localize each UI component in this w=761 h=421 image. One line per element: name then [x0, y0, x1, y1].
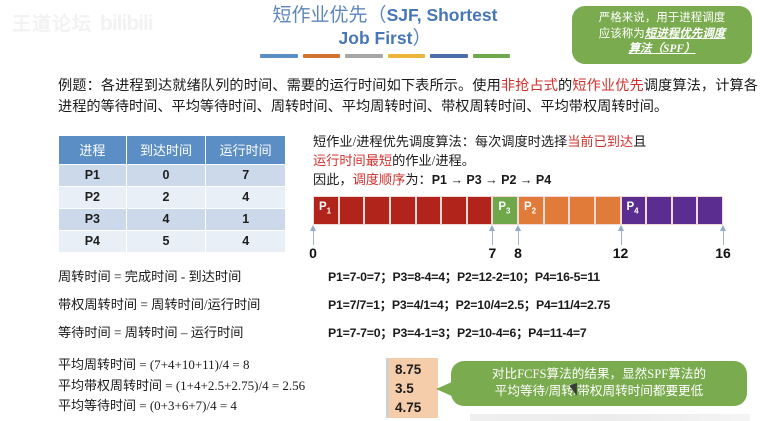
formula-row: 等待时间 = 周转时间 – 运行时间 P1=7-7=0；P3=4-1=3；P2=… — [58, 322, 758, 350]
table-cell: 0 — [126, 165, 206, 187]
title-cn: 短作业优先（ — [273, 5, 387, 26]
table-cell: P1 — [59, 165, 127, 187]
algo-note-red-2: 运行时间最短 — [313, 153, 392, 168]
watermark: 王道论坛bilibili — [12, 9, 153, 36]
gantt-segment-label: P4 — [627, 201, 639, 215]
gantt-cell — [390, 196, 416, 225]
average-line: 平均周转时间 = (7+4+10+11)/4 = 8 — [58, 355, 398, 376]
tick-label: 0 — [299, 245, 327, 261]
table-cell: 1 — [206, 209, 286, 231]
rule-seg-6 — [473, 54, 511, 58]
problem-part-2: 的 — [558, 78, 572, 94]
table-row: P2 2 4 — [59, 187, 286, 209]
algorithm-note: 短作业/进程优先调度算法：每次调度时选择当前已到达且 运行时间最短的作业/进程。… — [313, 132, 758, 190]
rule-seg-3 — [345, 54, 383, 58]
fcfs-result-value: 8.75 — [395, 360, 438, 379]
gantt-cell — [569, 196, 595, 225]
table-header-cell: 到达时间 — [126, 136, 206, 165]
table-row: P4 5 4 — [59, 231, 286, 253]
tick-label: 16 — [709, 245, 737, 261]
slide-root: 王道论坛bilibili 短作业优先（SJF, Shortest Job Fir… — [0, 0, 761, 421]
fcfs-result-value: 3.5 — [395, 379, 438, 398]
gantt-cell: P2 — [518, 196, 544, 225]
algo-note-text-2: 且 — [633, 134, 646, 149]
fcfs-result-value: 4.75 — [395, 398, 438, 417]
algo-note-line-2: 运行时间最短的作业/进程。 — [313, 151, 758, 170]
average-list: 平均周转时间 = (7+4+10+11)/4 = 8 平均带权周转时间 = (1… — [58, 355, 398, 417]
formula-rhs: P1=7-0=7；P3=8-4=4；P2=12-2=10；P4=16-5=11 — [328, 267, 600, 285]
rule-seg-5 — [430, 54, 468, 58]
tick-stem — [723, 230, 724, 245]
rule-seg-4 — [388, 54, 426, 58]
formula-row: 周转时间 = 完成时间 - 到达时间 P1=7-0=7；P3=8-4=4；P2=… — [58, 266, 758, 294]
algo-note-text-1: 短作业/进程优先调度算法：每次调度时选择 — [313, 134, 567, 149]
table-cell: P4 — [59, 231, 127, 253]
tick-label: 7 — [478, 245, 506, 261]
formula-lhs: 周转时间 = 完成时间 - 到达时间 — [58, 266, 241, 285]
rule-seg-1 — [260, 54, 298, 58]
title-en-1: SJF, Shortest — [387, 5, 498, 25]
gantt-cell — [646, 196, 672, 225]
callout-bottom-line-2: 平均等待/周转/带权周转时间都要更低 — [459, 383, 739, 400]
watermark-text-en: bilibili — [100, 12, 153, 35]
algo-note-text-3: 的作业/进程。 — [392, 153, 475, 168]
process-table: 进程 到达时间 运行时间 P1 0 7 P2 2 4 P3 4 1 P4 — [58, 135, 286, 253]
formula-rhs: P1=7/7=1；P3=4/1=4；P2=10/4=2.5；P4=11/4=2.… — [328, 295, 610, 313]
gantt-bar: P1P3P2P4 — [313, 196, 723, 225]
watermark-text-cn: 王道论坛 — [12, 14, 92, 35]
tick-stem — [492, 230, 493, 245]
tick-label: 12 — [607, 245, 635, 261]
algo-note-red-1: 当前已到达 — [567, 134, 633, 149]
algo-note-text-5: 为： — [405, 172, 431, 187]
gantt-cell — [595, 196, 621, 225]
gantt-cell: P1 — [313, 196, 339, 225]
algo-note-line-1: 短作业/进程优先调度算法：每次调度时选择当前已到达且 — [313, 132, 758, 151]
problem-red-1: 非抢占式 — [501, 78, 558, 94]
tick-label: 8 — [504, 245, 532, 261]
table-row: P3 4 1 — [59, 209, 286, 231]
gantt-segment-label: P2 — [524, 201, 536, 215]
title-line-1: 短作业优先（SJF, Shortest — [250, 4, 520, 27]
gantt-cell — [544, 196, 570, 225]
gantt-cell: P3 — [492, 196, 518, 225]
gantt-cell — [416, 196, 442, 225]
gantt-segment-label: P1 — [319, 201, 331, 215]
fcfs-result-box: 8.75 3.5 4.75 — [386, 358, 438, 418]
problem-red-2: 短作业优先 — [572, 78, 643, 94]
gantt-cell — [339, 196, 365, 225]
page-title: 短作业优先（SJF, Shortest Job First） — [250, 4, 520, 58]
callout-top-line-2: 应该称为短进程优先调度 — [579, 27, 745, 43]
formula-lhs: 带权周转时间 = 周转时间/运行时间 — [58, 294, 260, 313]
average-line: 平均等待时间 = (0+3+6+7)/4 = 4 — [58, 396, 398, 417]
gantt-chart: P1P3P2P4 — [313, 196, 723, 225]
callout-top-em-1: 短进程优先调度 — [645, 28, 726, 40]
average-line: 平均带权周转时间 = (1+4+2.5+2.75)/4 = 2.56 — [58, 376, 398, 397]
table-cell: 4 — [206, 231, 286, 253]
callout-top-em-2: 算法（SPF） — [579, 42, 745, 58]
table-header-cell: 运行时间 — [206, 136, 286, 165]
formula-row: 带权周转时间 = 周转时间/运行时间 P1=7/7=1；P3=4/1=4；P2=… — [58, 294, 758, 322]
algo-note-text-4: 因此， — [313, 172, 353, 187]
table-cell: P3 — [59, 209, 127, 231]
rule-seg-2 — [303, 54, 341, 58]
callout-bottom: 对比FCFS算法的结果，显然SPF算法的 平均等待/周转/带权周转时间都要更低 — [451, 361, 747, 406]
table-header-row: 进程 到达时间 运行时间 — [59, 136, 286, 165]
table-cell: 5 — [126, 231, 206, 253]
formula-lhs: 等待时间 = 周转时间 – 运行时间 — [58, 322, 243, 341]
bottom-edge-artifact — [470, 414, 750, 421]
table-cell: 4 — [206, 187, 286, 209]
formula-list: 周转时间 = 完成时间 - 到达时间 P1=7-0=7；P3=8-4=4；P2=… — [58, 266, 758, 350]
gantt-cell — [467, 196, 493, 225]
callout-top-line-1: 严格来说，用于进程调度 — [579, 11, 745, 27]
algo-note-line-3: 因此，调度顺序为：P1 → P3 → P2 → P4 — [313, 170, 758, 190]
tick-stem — [518, 230, 519, 245]
table-cell: 4 — [126, 209, 206, 231]
tick-stem — [313, 230, 314, 245]
gantt-cell — [441, 196, 467, 225]
title-line-2: Job First） — [250, 27, 520, 50]
gantt-cell — [672, 196, 698, 225]
problem-statement: 例题：各进程到达就绪队列的时间、需要的运行时间如下表所示。使用非抢占式的短作业优… — [58, 76, 758, 117]
callout-top-prefix: 应该称为 — [599, 28, 645, 40]
gantt-axis: 0781216 — [313, 225, 733, 265]
gantt-cell — [697, 196, 723, 225]
title-en-2: Job First — [339, 28, 413, 48]
table-cell: P2 — [59, 187, 127, 209]
title-cn-close: ） — [412, 28, 431, 49]
tick-stem — [621, 230, 622, 245]
table-row: P1 0 7 — [59, 165, 286, 187]
title-rule — [260, 54, 510, 58]
gantt-segment-label: P3 — [498, 201, 510, 215]
callout-bottom-line-1: 对比FCFS算法的结果，显然SPF算法的 — [459, 366, 739, 383]
table-cell: 2 — [126, 187, 206, 209]
schedule-order: P1 → P3 → P2 → P4 — [432, 173, 552, 187]
callout-top: 严格来说，用于进程调度 应该称为短进程优先调度 算法（SPF） — [572, 6, 752, 64]
table-header-cell: 进程 — [59, 136, 127, 165]
table-cell: 7 — [206, 165, 286, 187]
gantt-cell — [364, 196, 390, 225]
problem-part-1: 例题：各进程到达就绪队列的时间、需要的运行时间如下表所示。使用 — [58, 78, 501, 94]
gantt-cell: P4 — [621, 196, 647, 225]
algo-note-red-3: 调度顺序 — [353, 172, 406, 187]
formula-rhs: P1=7-7=0；P3=4-1=3；P2=10-4=6；P4=11-4=7 — [328, 323, 587, 341]
